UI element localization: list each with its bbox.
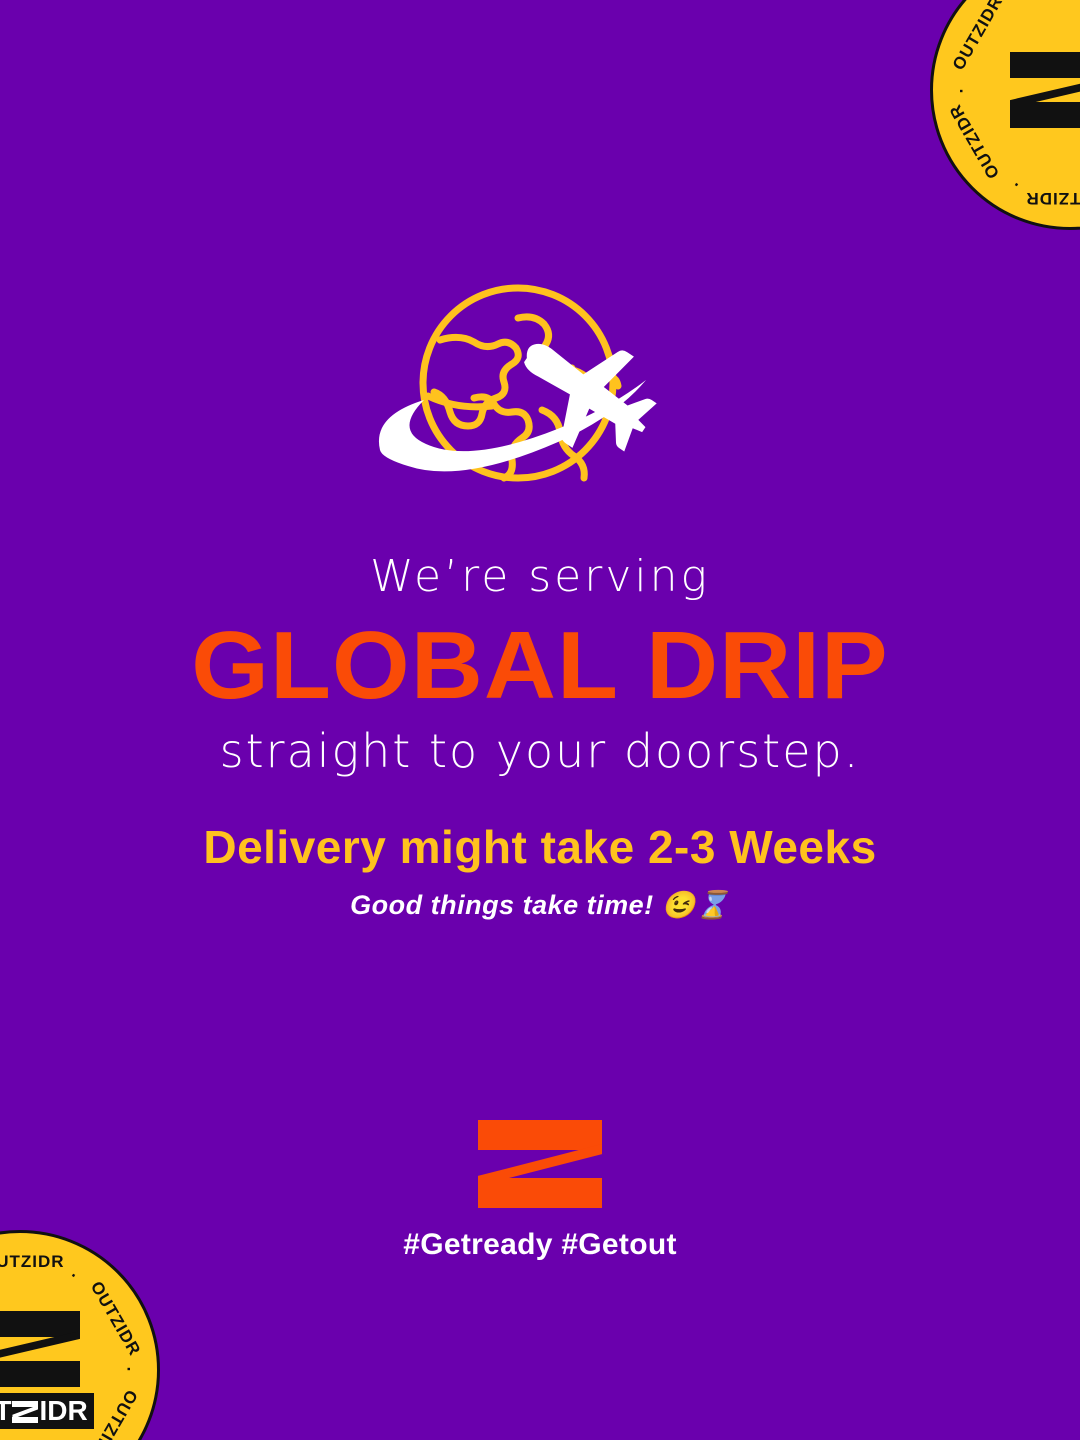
ring-word-dot: · — [36, 1436, 112, 1440]
z-logo-bottom-bar — [0, 1361, 80, 1387]
footer-hashtags: #Getready #Getout — [0, 1228, 1080, 1262]
z-logo-top-bar — [1010, 52, 1080, 78]
z-logo-top-bar — [0, 1311, 80, 1337]
ring-word-dot: · — [0, 1436, 4, 1440]
headline-subline: straight to your doorstep. — [0, 725, 1080, 778]
z-logo-bottom-bar — [478, 1178, 602, 1208]
wordmark-z-icon — [12, 1401, 38, 1423]
sticker-badge-top-right: OUTZIDR · OUTZIDR · OUTZIDR · OUTZIDR · … — [930, 0, 1080, 230]
delivery-block: Delivery might take 2-3 Weeks Good thing… — [0, 820, 1080, 921]
headline-big-word: GLOBAL DRIP — [0, 617, 1080, 715]
z-logo-bottom-bar — [1010, 102, 1080, 128]
delivery-estimate-text: Delivery might take 2-3 Weeks — [0, 820, 1080, 875]
z-logo-icon — [478, 1120, 602, 1208]
sticker-core-top-right — [986, 52, 1080, 128]
globe-airplane-icon — [370, 278, 710, 508]
footer-block: #Getready #Getout — [0, 1120, 1080, 1262]
wordmark-part-out: OUT — [0, 1395, 11, 1426]
poster-canvas: OUTZIDR · OUTZIDR · OUTZIDR · OUTZIDR · … — [0, 0, 1080, 1440]
z-logo-icon — [0, 1311, 80, 1387]
delivery-note-text: Good things take time! 😉⌛ — [0, 889, 1080, 921]
wordmark-part-idr: IDR — [39, 1395, 87, 1426]
ring-word-dot: · — [978, 0, 1054, 24]
sticker-core-bottom-left: OUTIDR — [0, 1311, 104, 1429]
z-logo-icon — [1010, 52, 1080, 128]
sticker-wordmark: OUTIDR — [0, 1393, 94, 1429]
headline-block: We’re serving GLOBAL DRIP straight to yo… — [0, 552, 1080, 777]
headline-kicker: We’re serving — [0, 552, 1080, 603]
z-logo-top-bar — [478, 1120, 602, 1150]
